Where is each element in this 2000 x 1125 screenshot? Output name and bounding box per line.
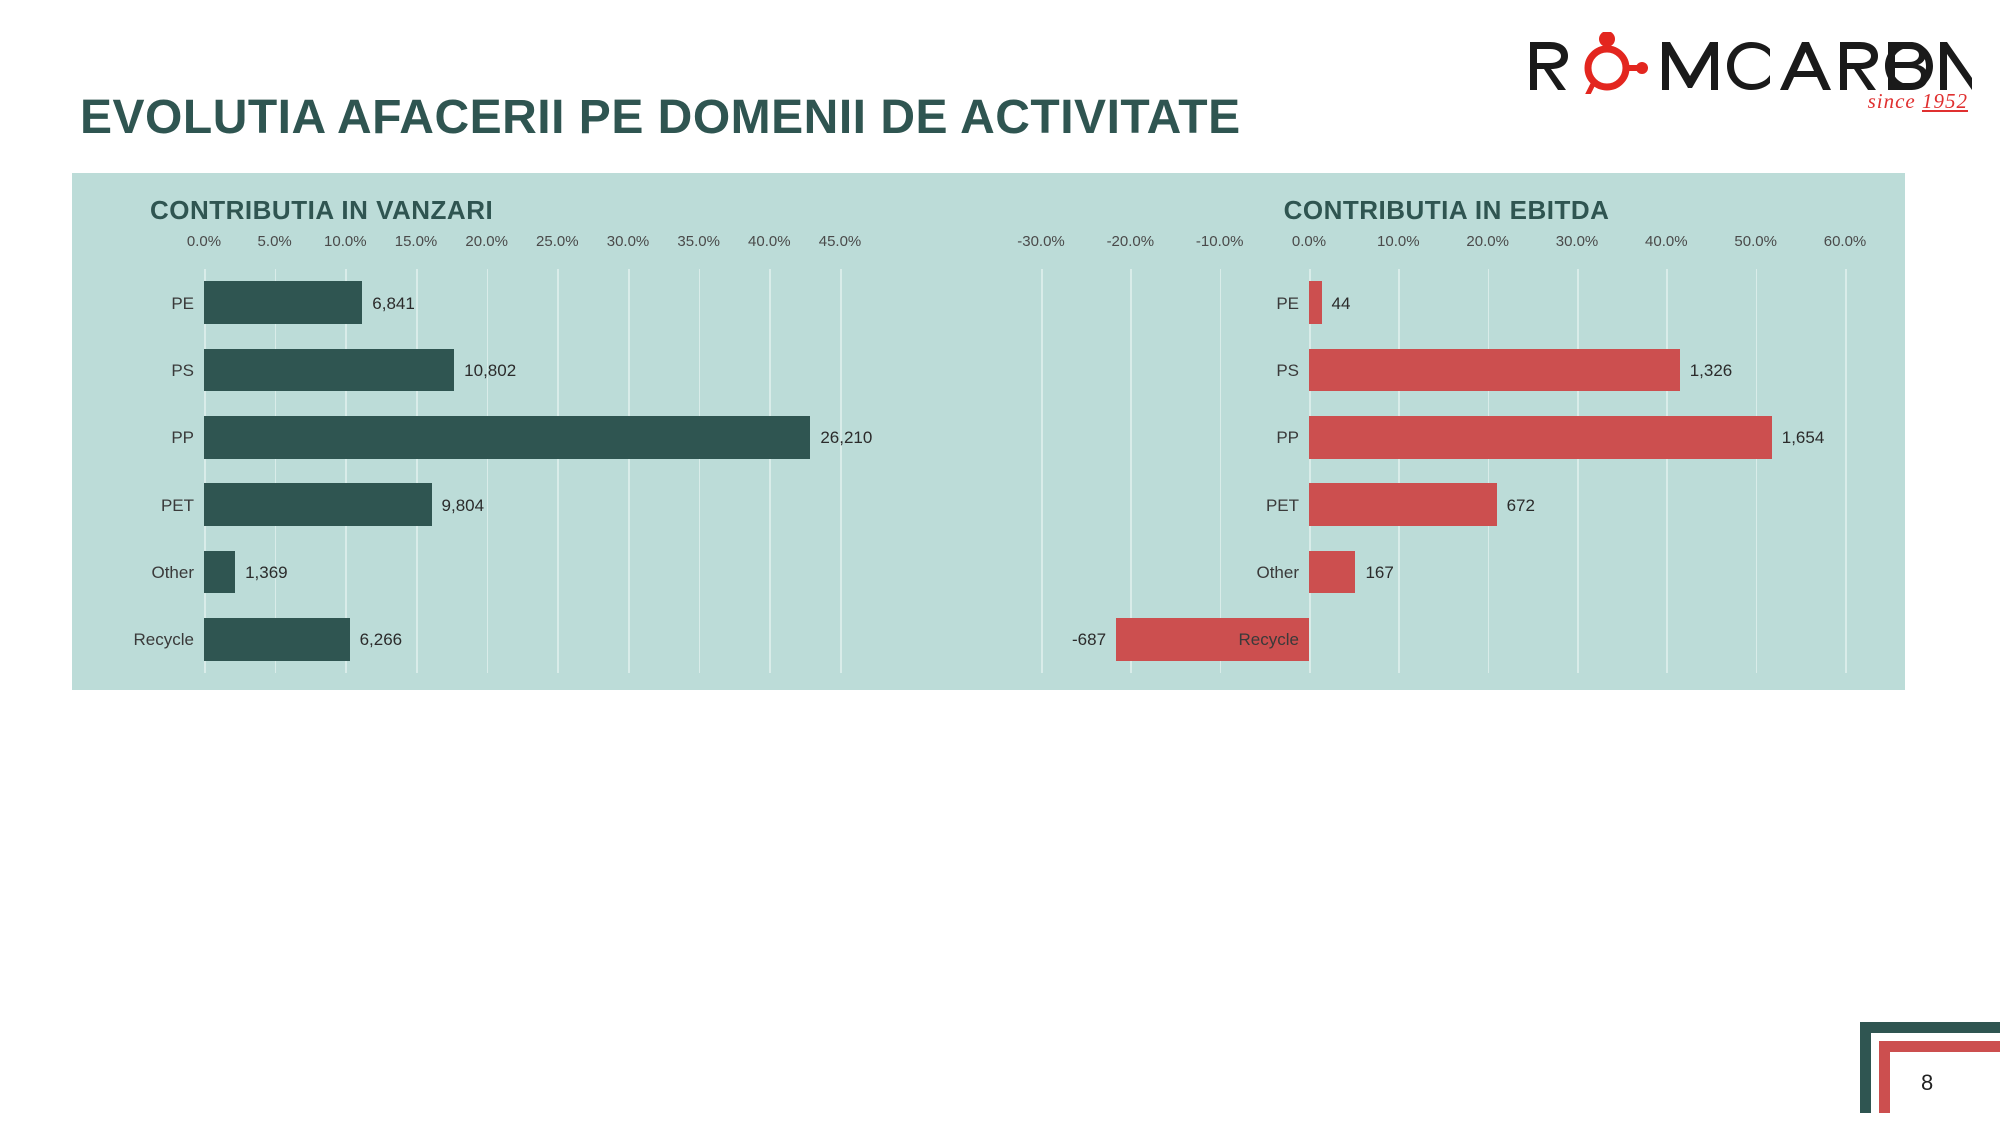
gridline <box>1845 269 1847 673</box>
category-label-ps: PS <box>171 362 194 379</box>
x-tick-label: 35.0% <box>677 233 720 250</box>
x-axis-ebitda: -30.0%-20.0%-10.0%0.0%10.0%20.0%30.0%40.… <box>1041 233 1845 259</box>
x-tick-label: 25.0% <box>536 233 579 250</box>
value-label-pet: 672 <box>1507 497 1535 514</box>
x-tick-label: 40.0% <box>748 233 791 250</box>
category-label-pe: PE <box>1276 295 1299 312</box>
x-tick-label: 50.0% <box>1734 233 1777 250</box>
value-label-pe: 6,841 <box>372 295 415 312</box>
x-tick-label: 30.0% <box>607 233 650 250</box>
logo-wordmark-svg <box>1522 32 1972 94</box>
bar-pet[interactable] <box>1309 483 1497 525</box>
value-label-other: 167 <box>1365 564 1393 581</box>
x-tick-label: 5.0% <box>258 233 292 250</box>
value-label-ps: 10,802 <box>464 362 516 379</box>
logo-tagline: since 1952 <box>1868 89 1968 114</box>
value-label-pe: 44 <box>1332 295 1351 312</box>
bar-pet[interactable] <box>204 483 432 525</box>
bracket-inner-icon <box>1879 1041 2000 1113</box>
bar-row: PE44 <box>1041 281 1845 323</box>
x-tick-label: 40.0% <box>1645 233 1688 250</box>
bar-row: PET672 <box>1041 483 1845 525</box>
value-label-pp: 1,654 <box>1782 429 1825 446</box>
page-number: 8 <box>1921 1070 1933 1096</box>
category-label-recycle: Recycle <box>1239 631 1299 648</box>
bar-row: PP26,210 <box>204 416 840 458</box>
bar-row: PS10,802 <box>204 349 840 391</box>
plot-area-sales: 0.0%5.0%10.0%15.0%20.0%25.0%30.0%35.0%40… <box>204 233 840 673</box>
logo-tagline-year: 1952 <box>1922 89 1968 113</box>
value-label-pet: 9,804 <box>442 497 485 514</box>
bar-row: PE6,841 <box>204 281 840 323</box>
x-tick-label: 45.0% <box>819 233 862 250</box>
x-axis-sales: 0.0%5.0%10.0%15.0%20.0%25.0%30.0%35.0%40… <box>204 233 840 259</box>
gridline <box>840 269 842 673</box>
value-label-recycle: -687 <box>1072 631 1106 648</box>
value-label-pp: 26,210 <box>820 429 872 446</box>
category-label-recycle: Recycle <box>134 631 194 648</box>
x-tick-label: 15.0% <box>395 233 438 250</box>
category-label-pe: PE <box>171 295 194 312</box>
plot-area-ebitda: -30.0%-20.0%-10.0%0.0%10.0%20.0%30.0%40.… <box>1041 233 1845 673</box>
x-tick-label: 20.0% <box>1466 233 1509 250</box>
bars-ebitda: PE44PS1,326PP1,654PET672Other167Recycle-… <box>1041 269 1845 673</box>
x-tick-label: -10.0% <box>1196 233 1244 250</box>
bar-pe[interactable] <box>1309 281 1322 323</box>
bar-pp[interactable] <box>204 416 810 458</box>
bar-row: Other167 <box>1041 551 1845 593</box>
bar-row: Recycle6,266 <box>204 618 840 660</box>
x-tick-label: 0.0% <box>187 233 221 250</box>
category-label-ps: PS <box>1276 362 1299 379</box>
x-tick-label: -30.0% <box>1017 233 1065 250</box>
category-label-other: Other <box>151 564 194 581</box>
category-label-pet: PET <box>1266 497 1299 514</box>
bar-ps[interactable] <box>204 349 454 391</box>
bar-row: Recycle-687 <box>1041 618 1845 660</box>
bar-row: PET9,804 <box>204 483 840 525</box>
chart-contributia-in-ebitda: CONTRIBUTIA IN EBITDA -30.0%-20.0%-10.0%… <box>988 173 1905 690</box>
chart-title-ebitda: CONTRIBUTIA IN EBITDA <box>1284 195 1610 226</box>
category-label-other: Other <box>1256 564 1299 581</box>
x-tick-label: 60.0% <box>1824 233 1867 250</box>
x-tick-label: 10.0% <box>1377 233 1420 250</box>
bar-row: Other1,369 <box>204 551 840 593</box>
bar-recycle[interactable] <box>204 618 350 660</box>
bar-other[interactable] <box>1309 551 1355 593</box>
romcarbon-logo: since 1952 <box>1522 16 1972 116</box>
chart-contributia-in-vanzari: CONTRIBUTIA IN VANZARI 0.0%5.0%10.0%15.0… <box>72 173 988 690</box>
bar-row: PS1,326 <box>1041 349 1845 391</box>
x-tick-label: 10.0% <box>324 233 367 250</box>
category-label-pet: PET <box>161 497 194 514</box>
category-label-pp: PP <box>1276 429 1299 446</box>
page-title: EVOLUTIA AFACERII PE DOMENII DE ACTIVITA… <box>80 90 1241 145</box>
value-label-other: 1,369 <box>245 564 288 581</box>
bar-other[interactable] <box>204 551 235 593</box>
x-tick-label: 0.0% <box>1292 233 1326 250</box>
value-label-ps: 1,326 <box>1690 362 1733 379</box>
bars-sales: PE6,841PS10,802PP26,210PET9,804Other1,36… <box>204 269 840 673</box>
value-label-recycle: 6,266 <box>360 631 403 648</box>
bar-row: PP1,654 <box>1041 416 1845 458</box>
bar-pp[interactable] <box>1309 416 1772 458</box>
logo-tagline-prefix: since <box>1868 89 1922 113</box>
x-tick-label: 30.0% <box>1556 233 1599 250</box>
x-tick-label: 20.0% <box>465 233 508 250</box>
bar-pe[interactable] <box>204 281 362 323</box>
charts-panel: CONTRIBUTIA IN VANZARI 0.0%5.0%10.0%15.0… <box>72 173 1905 690</box>
chart-title-sales: CONTRIBUTIA IN VANZARI <box>150 195 493 226</box>
bar-ps[interactable] <box>1309 349 1680 391</box>
x-tick-label: -20.0% <box>1107 233 1155 250</box>
category-label-pp: PP <box>171 429 194 446</box>
corner-bracket-decoration: 8 <box>1860 1022 2000 1125</box>
